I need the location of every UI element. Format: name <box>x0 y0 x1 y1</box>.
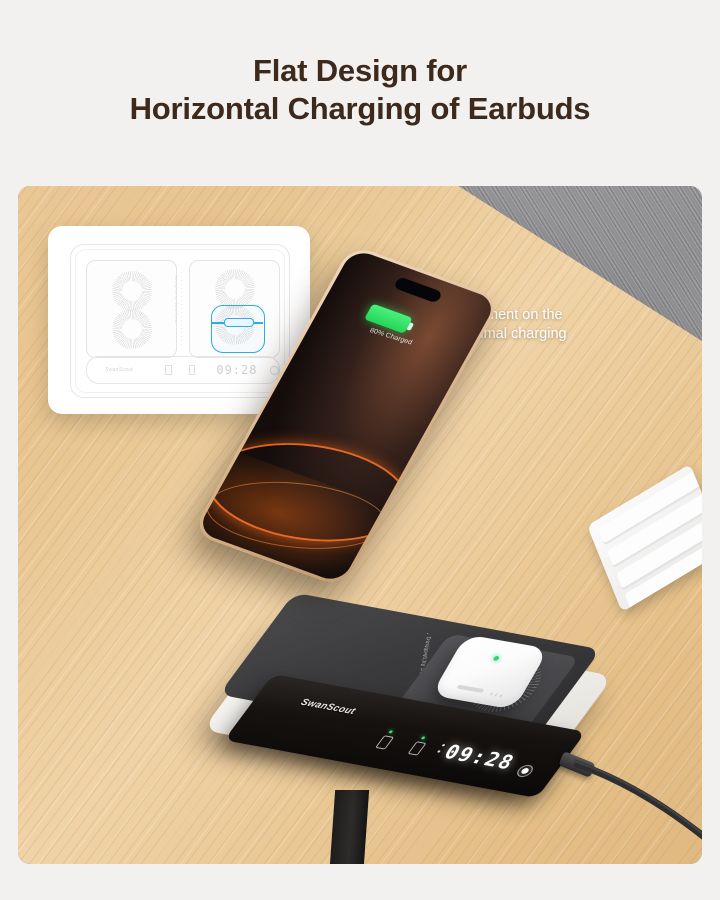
device-brand-logo: SwanScout <box>298 697 357 717</box>
charging-coil-icon: ⚡ <box>215 269 255 309</box>
sun-icon <box>270 366 279 375</box>
sun-icon[interactable] <box>516 765 534 777</box>
case-charging-port <box>457 685 485 693</box>
charging-led-icon <box>492 656 500 661</box>
device-indicator-icon <box>408 741 427 755</box>
bolt-icon: ⚡ <box>112 309 152 349</box>
diagram-right-pad: ⚡ ⚡ <box>189 260 280 358</box>
diagram-brand-label: SwanScout <box>105 367 133 373</box>
device-clock: 09:28 <box>440 740 520 774</box>
diagram-status-bar: SwanScout 09:28 <box>86 356 280 384</box>
dynamic-island <box>393 276 443 303</box>
diagram-left-pad: ⚡ ⚡ <box>86 260 177 358</box>
charging-coil-icon: ⚡ <box>112 271 152 311</box>
bolt-icon: ⚡ <box>112 271 152 311</box>
diagram-clock: 09:28 <box>216 363 257 377</box>
earbuds-case-highlight <box>211 305 265 353</box>
status-led-icon <box>388 730 393 733</box>
diagram-divider-dots <box>181 268 182 348</box>
wireless-charger: Designed by SwanScout 80% Charged <box>242 581 590 811</box>
device-indicator-icon <box>375 735 394 749</box>
device-indicator-icon <box>189 365 196 375</box>
case-hinge-bar <box>224 318 254 327</box>
diagram-divider-label: Designed by SwanScout <box>174 276 178 346</box>
page-title-line-2: Horizontal Charging of Earbuds <box>0 90 720 128</box>
page-title: Flat Design for Horizontal Charging of E… <box>0 52 720 128</box>
diagram-outer-body: ⚡ ⚡ Designed by SwanScout ⚡ ⚡ <box>70 244 290 398</box>
placement-diagram-card: ⚡ ⚡ Designed by SwanScout ⚡ ⚡ <box>48 226 310 414</box>
page-title-line-1: Flat Design for <box>253 53 467 88</box>
bolt-icon: ⚡ <box>215 269 255 309</box>
status-led-icon <box>421 736 426 739</box>
case-speaker-grille <box>490 693 505 698</box>
device-indicator-icon <box>165 365 172 375</box>
diagram-inner-body: ⚡ ⚡ Designed by SwanScout ⚡ ⚡ <box>75 249 285 393</box>
charging-coil-icon: ⚡ <box>112 309 152 349</box>
product-photo: ⚡ ⚡ Designed by SwanScout ⚡ ⚡ <box>18 186 702 864</box>
